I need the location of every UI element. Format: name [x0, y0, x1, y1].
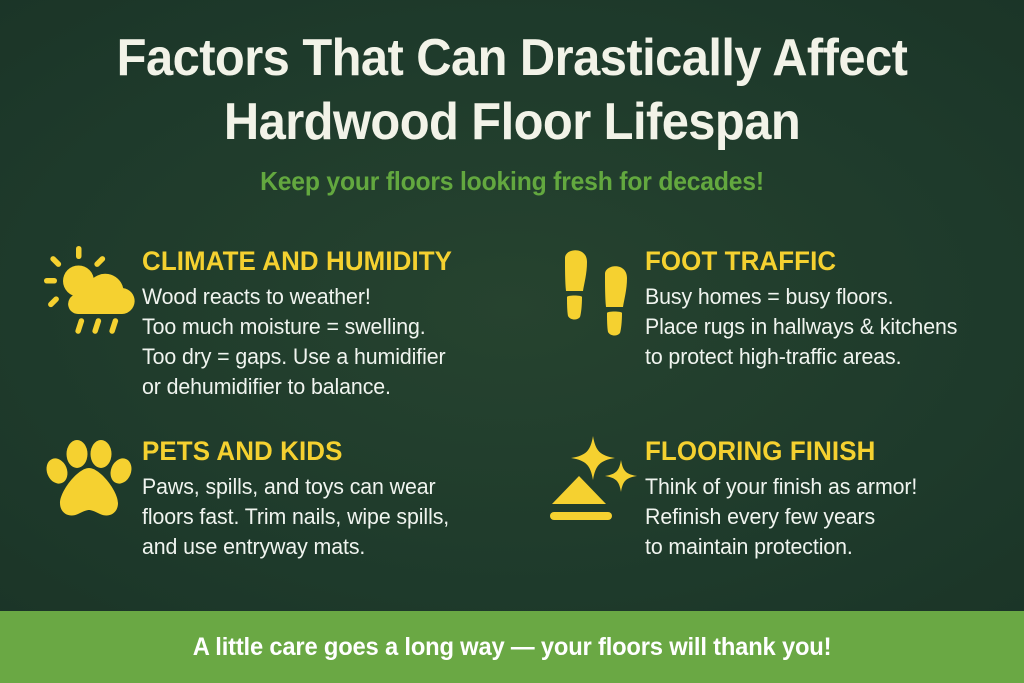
footprints-icon — [545, 240, 645, 344]
factor-line: Place rugs in hallways & kitchens — [645, 312, 1014, 342]
factor-line: floors fast. Trim nails, wipe spills, — [142, 502, 526, 532]
factor-line: or dehumidifier to balance. — [142, 372, 526, 402]
factor-line: Busy homes = busy floors. — [645, 282, 1014, 312]
page-title-line-1: Factors That Can Drastically Affect — [31, 26, 994, 90]
factor-card-body: FLOORING FINISH Think of your finish as … — [645, 430, 1024, 562]
factor-card-body: CLIMATE AND HUMIDITY Wood reacts to weat… — [142, 240, 538, 402]
infographic-poster: Factors That Can Drastically Affect Hard… — [0, 0, 1024, 683]
factor-card-flooring-finish: FLOORING FINISH Think of your finish as … — [545, 430, 1024, 562]
factor-line: Wood reacts to weather! — [142, 282, 526, 312]
factor-line: and use entryway mats. — [142, 532, 526, 562]
factor-title: FLOORING FINISH — [645, 436, 1010, 466]
footer-message: A little care goes a long way — your flo… — [193, 633, 832, 662]
factor-description: Think of your finish as armor! Refinish … — [645, 472, 1014, 562]
sun-cloud-rain-icon — [38, 240, 142, 344]
factor-line: to protect high-traffic areas. — [645, 342, 1014, 372]
factors-grid: CLIMATE AND HUMIDITY Wood reacts to weat… — [0, 232, 1024, 592]
factor-title: FOOT TRAFFIC — [645, 246, 1010, 276]
factor-line: Think of your finish as armor! — [645, 472, 1014, 502]
factor-line: to maintain protection. — [645, 532, 1014, 562]
factor-card-body: PETS AND KIDS Paws, spills, and toys can… — [142, 430, 538, 562]
footer-banner: A little care goes a long way — your flo… — [0, 611, 1024, 683]
factor-description: Wood reacts to weather! Too much moistur… — [142, 282, 526, 402]
factor-description: Busy homes = busy floors. Place rugs in … — [645, 282, 1014, 372]
factor-card-climate-and-humidity: CLIMATE AND HUMIDITY Wood reacts to weat… — [38, 240, 538, 402]
page-title-line-2: Hardwood Floor Lifespan — [31, 90, 994, 154]
poster-header: Factors That Can Drastically Affect Hard… — [0, 26, 1024, 196]
sparkle-finish-icon — [545, 430, 645, 534]
factor-line: Paws, spills, and toys can wear — [142, 472, 526, 502]
factor-description: Paws, spills, and toys can wear floors f… — [142, 472, 526, 562]
factor-line: Refinish every few years — [645, 502, 1014, 532]
paw-print-icon — [38, 430, 142, 534]
factor-card-pets-and-kids: PETS AND KIDS Paws, spills, and toys can… — [38, 430, 538, 562]
factor-title: CLIMATE AND HUMIDITY — [142, 246, 522, 276]
page-subtitle: Keep your floors looking fresh for decad… — [26, 166, 999, 196]
factor-card-foot-traffic: FOOT TRAFFIC Busy homes = busy floors. P… — [545, 240, 1024, 372]
factor-line: Too dry = gaps. Use a humidifier — [142, 342, 526, 372]
factor-line: Too much moisture = swelling. — [142, 312, 526, 342]
factor-card-body: FOOT TRAFFIC Busy homes = busy floors. P… — [645, 240, 1024, 372]
factor-title: PETS AND KIDS — [142, 436, 522, 466]
